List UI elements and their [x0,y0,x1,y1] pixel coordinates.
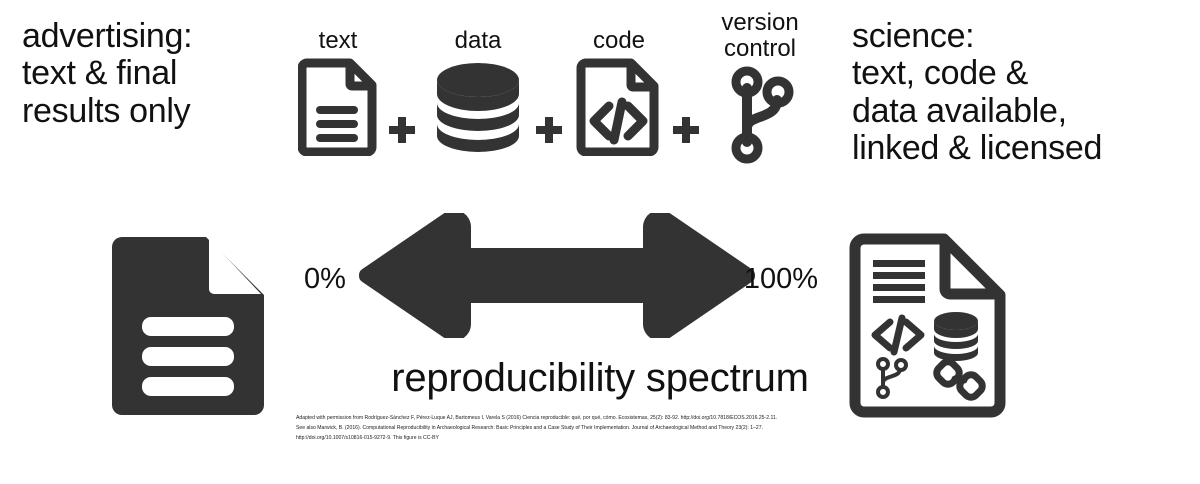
spectrum-max-label: 100% [744,263,818,296]
text-lines-glyph [873,260,925,303]
component-data-label: data [423,28,533,54]
spectrum-arrow-row: 0% 100% [290,213,820,338]
attribution-line-3: http://doi.org/10.1007/s10816-015-9272-9… [296,434,916,444]
git-branch-icon [725,66,795,164]
spectrum-min-label: 0% [304,263,346,296]
figure-canvas: advertising: text & final results only s… [0,0,1200,484]
component-version-control-label: version control [704,10,816,62]
component-data: data [423,22,533,156]
code-glyph [875,318,921,352]
component-text-label: text [288,28,388,54]
attribution-line-2: See also Marwick, B. (2016). Computation… [296,424,916,434]
document-with-code-data-vcs-link-icon [848,233,1008,418]
database-glyph [934,312,978,361]
document-solid-icon [108,233,268,418]
component-strip: text data [288,22,816,192]
git-branch-glyph [878,359,906,397]
database-icon [430,58,526,156]
document-icon [298,58,378,156]
component-text: text [288,22,388,156]
component-code-label: code [569,28,669,54]
code-document-icon [576,58,662,156]
double-headed-arrow-icon [352,213,762,338]
component-code: code [569,22,669,156]
component-version-control: version control [704,10,816,164]
attribution-line-1: Adapted with permission from Rodríguez-S… [296,414,916,424]
left-headline: advertising: text & final results only [22,18,292,130]
link-chain-glyph [934,359,985,400]
right-headline: science: text, code & data available, li… [852,18,1198,168]
attribution-block: Adapted with permission from Rodríguez-S… [296,414,916,444]
